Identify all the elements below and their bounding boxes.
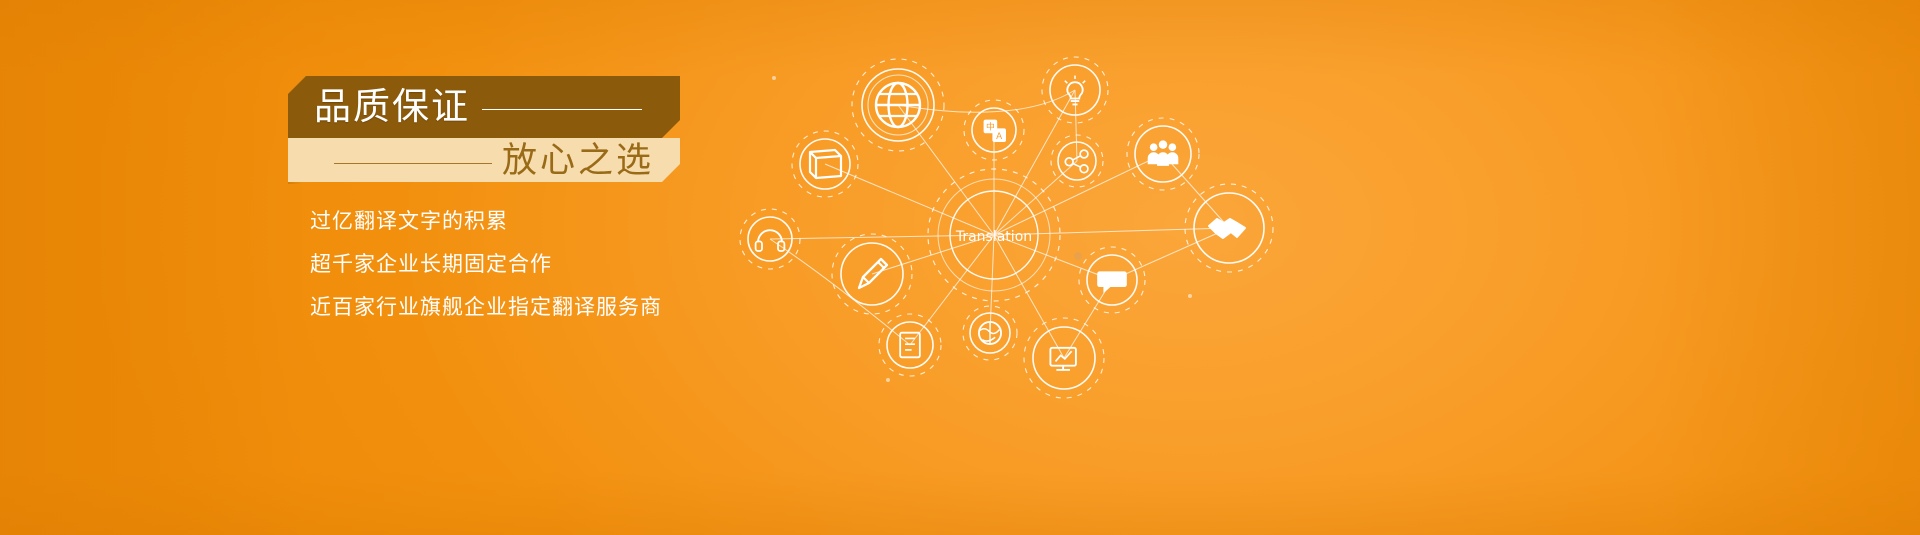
monitor-icon [1050,348,1076,370]
headline-ribbon-top: 品质保证 [288,76,680,138]
translation-network-graphic: 中 A [700,0,1920,535]
benefit-list: 过亿翻译文字的积累 超千家企业长期固定合作 近百家行业旗舰企业指定翻译服务商 [310,208,662,320]
headline-ribbon: 品质保证 放心之选 [288,76,680,182]
headline-rule-top [482,109,642,110]
node-earth [963,306,1017,360]
node-monitor [1024,318,1104,398]
handshake-icon [1209,219,1245,238]
earth-small-icon [979,322,1001,344]
headset-icon [756,230,785,251]
node-handshake [1185,184,1273,272]
headline-primary: 品质保证 [314,89,470,126]
node-people [1127,118,1199,190]
headline-rule-bottom [334,163,492,164]
left-text-block: 品质保证 放心之选 过亿翻译文字的积累 超千家企业长期固定合作 近百家行业旗舰企… [0,0,760,535]
node-globe [852,59,944,151]
globe-icon [876,83,920,127]
benefit-item: 近百家行业旗舰企业指定翻译服务商 [310,294,662,320]
benefit-item: 过亿翻译文字的积累 [310,208,662,234]
node-chat [1079,247,1145,313]
headline-ribbon-bottom: 放心之选 [288,138,680,182]
headline-secondary: 放心之选 [502,143,654,178]
promo-banner: 品质保证 放心之选 过亿翻译文字的积累 超千家企业长期固定合作 近百家行业旗舰企… [0,0,1920,535]
translate-icon [984,120,1006,142]
benefit-item: 超千家企业长期固定合作 [310,251,662,277]
chat-bubble-icon [1097,271,1127,293]
center-node-label: Translation [955,229,1032,245]
network-dot-accent [1074,252,1082,260]
people-group-icon [1148,140,1179,166]
